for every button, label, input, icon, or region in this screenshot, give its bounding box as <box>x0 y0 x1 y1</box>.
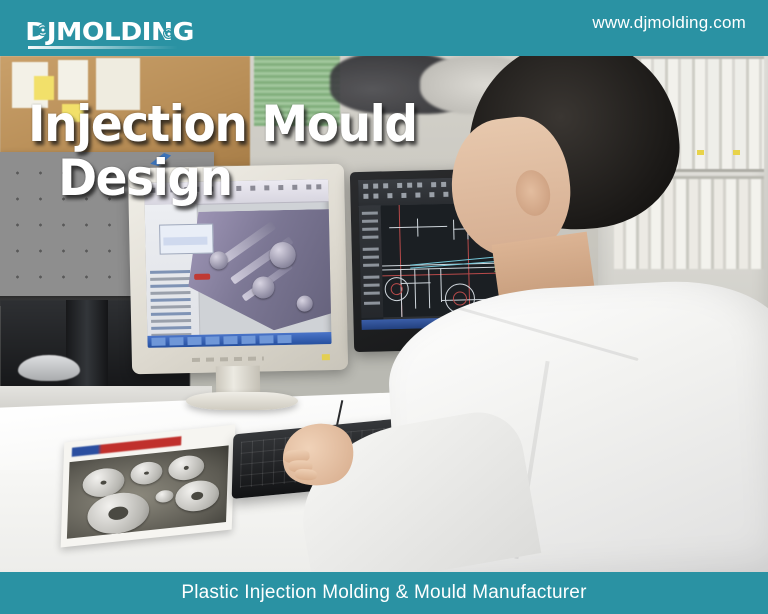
footer-tagline: Plastic Injection Molding & Mould Manufa… <box>181 582 586 604</box>
marketing-banner: DJMOLDING www.djmolding.com Injection Mo… <box>0 0 768 614</box>
binder-label <box>733 150 740 155</box>
catalog-cover-photo <box>67 445 229 538</box>
footer-bar: Plastic Injection Molding & Mould Manufa… <box>0 572 768 614</box>
binder-label <box>697 150 704 155</box>
header-bar: DJMOLDING www.djmolding.com <box>0 0 768 56</box>
computer-mouse <box>18 355 80 381</box>
brand-logo[interactable]: DJMOLDING <box>30 18 189 44</box>
gear-icon <box>37 24 49 36</box>
page-title-line-1: Injection Mould <box>28 100 423 148</box>
gear-icon <box>163 28 174 39</box>
finger <box>295 468 318 481</box>
monitor-osd-buttons[interactable] <box>192 356 264 362</box>
monitor-stand-base <box>186 392 298 410</box>
hero-photo <box>0 0 768 614</box>
page-title: Injection Mould Design <box>28 100 448 202</box>
pinned-paper <box>58 60 88 100</box>
windows-taskbar <box>147 332 331 348</box>
monitor-power-led <box>322 354 330 360</box>
cad-selected-face <box>194 274 210 280</box>
brand-logo-underline <box>28 46 178 49</box>
autocad-tool-palette <box>359 205 384 318</box>
site-url-link[interactable]: www.djmolding.com <box>592 13 746 33</box>
cad-dialog <box>159 224 214 255</box>
drawing-line <box>417 219 418 237</box>
page-title-line-2: Design <box>28 154 423 202</box>
mould-parts-catalog <box>61 425 236 548</box>
